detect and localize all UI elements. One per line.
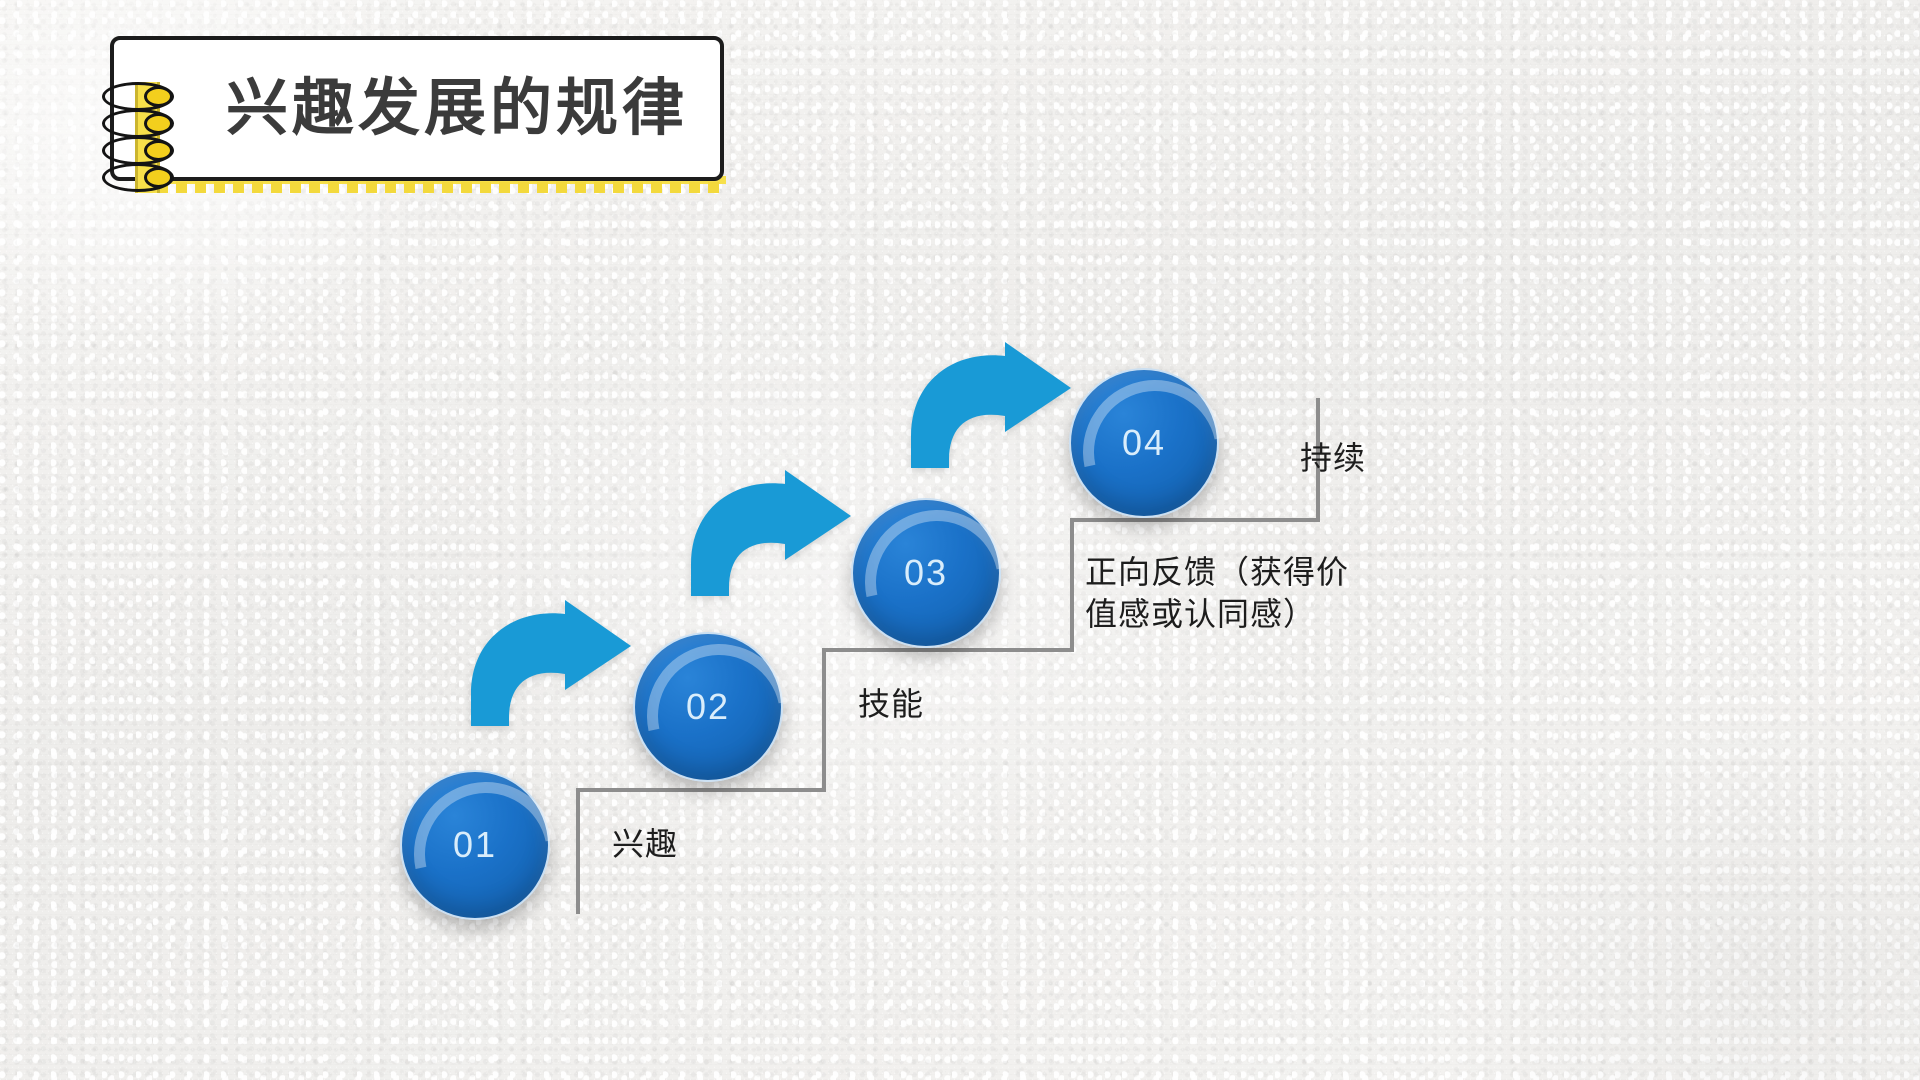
step-circle-01[interactable]: 01: [400, 770, 550, 920]
step-caption-01: 兴趣: [612, 824, 678, 866]
step-circle-04[interactable]: 04: [1069, 368, 1219, 518]
title-card: 兴趣发展的规律: [110, 36, 724, 181]
step-caption-02: 技能: [858, 684, 924, 726]
step-number-label: 04: [1122, 425, 1166, 461]
spiral-bead-icon: [144, 113, 173, 134]
step-circle-03[interactable]: 03: [851, 498, 1001, 648]
step-caption-04: 持续: [1300, 438, 1366, 480]
title-notebook-block: 兴趣发展的规律: [76, 36, 728, 191]
arrow-03-to-04-icon: [903, 340, 1078, 475]
step-number-label: 03: [904, 555, 948, 591]
spiral-bead-icon: [144, 140, 173, 161]
page-title: 兴趣发展的规律: [226, 78, 688, 140]
spiral-bead-icon: [144, 86, 173, 107]
arrow-02-to-03-icon: [683, 468, 858, 603]
arrow-01-to-02-icon: [463, 598, 638, 733]
step-caption-03: 正向反馈（获得价 值感或认同感）: [1085, 552, 1349, 635]
step-number-label: 02: [686, 689, 730, 725]
title-yellow-dashed-strip: [138, 182, 726, 193]
step-circle-02[interactable]: 02: [633, 632, 783, 782]
spiral-bead-icon: [144, 167, 173, 188]
step-number-label: 01: [453, 827, 497, 863]
